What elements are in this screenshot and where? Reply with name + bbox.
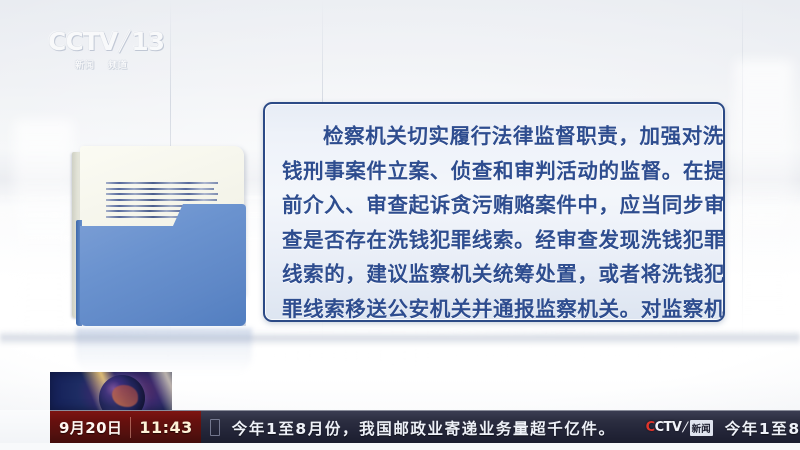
- ticker-headline: 今年1至8月份，我国邮政业寄递业务量超千亿件。: [232, 417, 616, 439]
- ticker-logo-c2: C: [655, 420, 664, 435]
- ticker-logo-c4: V: [672, 420, 681, 435]
- news-caption-text: 检察机关切实履行法律监督职责，加强对洗 钱刑事案件立案、侦查和审判活动的监督。在…: [265, 104, 723, 322]
- background-panel-glow: [14, 120, 74, 330]
- ticker-bullet-icon: [210, 419, 220, 436]
- channel-logo-subtitle: 新闻 频道: [48, 58, 166, 71]
- folder-front-cover: [80, 204, 246, 326]
- folder-reflection: [76, 328, 252, 374]
- channel-logo-sub-left: 新闻: [75, 58, 95, 71]
- ticker-separator: [130, 417, 131, 438]
- frame-bottom-edge: [0, 443, 800, 450]
- ticker-left-padding: [0, 410, 50, 443]
- caption-line: 检察机关切实履行法律监督职责，加强对洗: [282, 119, 706, 154]
- channel-logo-text: CCTV / 13: [48, 26, 166, 57]
- caption-line: 钱刑事案件立案、侦查和审判活动的监督。在提: [282, 154, 706, 189]
- ticker-time: 11:43: [139, 418, 192, 437]
- ticker-logo-cctv: CCTV: [646, 420, 682, 435]
- news-ticker-bar: 9月20日 11:43 今年1至8月份，我国邮政业寄递业务量超千亿件。 CCTV…: [50, 410, 800, 444]
- document-folder-icon: [72, 146, 248, 326]
- channel-logo-number: 13: [131, 27, 164, 56]
- background-panel-glow: [735, 60, 793, 310]
- folder-tab: [80, 204, 246, 326]
- channel-logo-cctv: CCTV: [48, 27, 117, 56]
- ticker-logo-c3: T: [664, 420, 672, 435]
- ticker-logo-sub: 新闻: [690, 420, 713, 436]
- ticker-headline-scroller: 今年1至8月份，我国邮政业寄递业务量超千亿件。 CCTV / 新闻 今年1至8月…: [201, 411, 800, 444]
- ticker-logo-slash-icon: /: [681, 420, 689, 435]
- ticker-datetime-block: 9月20日 11:43: [50, 411, 201, 444]
- channel-logo-sub-right: 频道: [108, 58, 128, 71]
- caption-line: 查是否存在洗钱犯罪线索。经审查发现洗钱犯罪: [282, 223, 706, 258]
- program-logo-block: [50, 372, 172, 410]
- ticker-logo-c1: C: [646, 420, 655, 435]
- ticker-cctv-news-logo: CCTV / 新闻: [646, 420, 713, 436]
- ticker-headline-repeat: 今年1至8月份: [725, 417, 800, 439]
- news-caption-box: 检察机关切实履行法律监督职责，加强对洗 钱刑事案件立案、侦查和审判活动的监督。在…: [263, 102, 725, 322]
- ticker-date: 9月20日: [59, 417, 122, 438]
- caption-line: 罪线索移送公安机关并通报监察机关。对监察机: [282, 292, 706, 323]
- broadcast-frame: CCTV / 13 新闻 频道 检察机关切实履行法律监督职责，加强对洗 钱刑事案…: [0, 0, 800, 450]
- caption-line: 线索的，建议监察机关统筹处置，或者将洗钱犯: [282, 257, 706, 292]
- channel-logo-slash-icon: /: [117, 26, 132, 57]
- channel-logo-bug: CCTV / 13 新闻 频道: [48, 26, 166, 71]
- caption-line: 前介入、审查起诉贪污贿赂案件中，应当同步审: [282, 188, 706, 223]
